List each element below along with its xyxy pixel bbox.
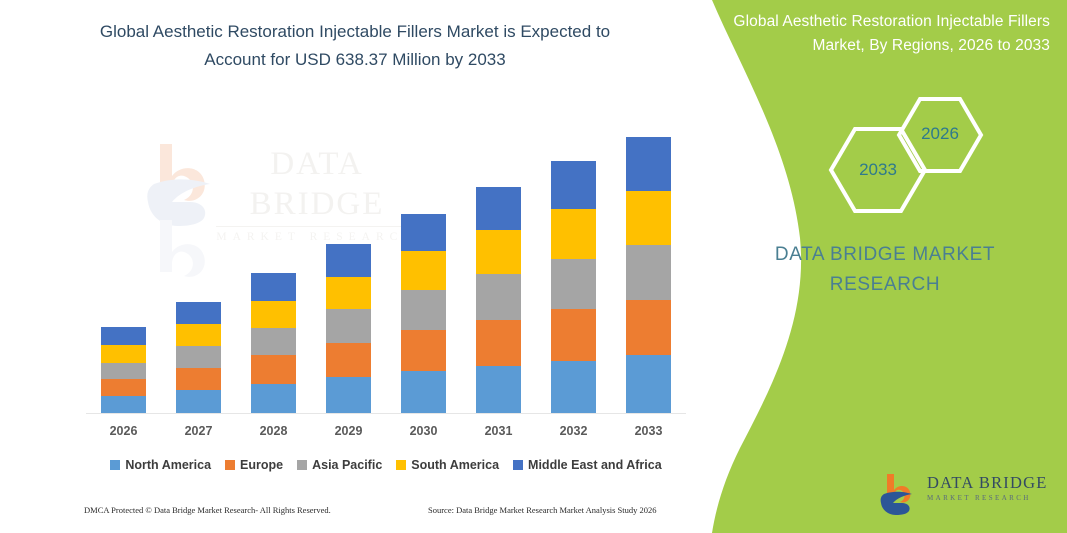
bar-segment[interactable]: [101, 327, 146, 345]
stacked-bar-plot: [86, 120, 686, 414]
bar-segment[interactable]: [326, 277, 371, 310]
panel-content: Global Aesthetic Restoration Injectable …: [700, 0, 1067, 533]
chart-area: Global Aesthetic Restoration Injectable …: [0, 0, 712, 533]
dbmr-logo-line2: MARKET RESEARCH: [927, 492, 1052, 504]
legend-item-south-america[interactable]: South America: [396, 458, 499, 472]
legend-swatch-icon: [110, 460, 120, 470]
bar-2029[interactable]: [326, 244, 371, 413]
bar-segment[interactable]: [101, 363, 146, 380]
bar-segment[interactable]: [476, 366, 521, 413]
x-tick-2028: 2028: [239, 424, 309, 438]
dbmr-logo-line1: DATA BRIDGE: [927, 474, 1052, 492]
bar-segment[interactable]: [326, 377, 371, 413]
dbmr-logo-wordmark: DATA BRIDGE MARKET RESEARCH: [927, 474, 1052, 504]
x-tick-2033: 2033: [614, 424, 684, 438]
chart-title: Global Aesthetic Restoration Injectable …: [70, 18, 640, 74]
bar-segment[interactable]: [326, 244, 371, 277]
footer-source: Source: Data Bridge Market Research Mark…: [428, 505, 657, 515]
hexagon-2026-label: 2026: [896, 124, 984, 144]
bar-segment[interactable]: [176, 346, 221, 368]
bar-2033[interactable]: [626, 137, 671, 413]
bar-2031[interactable]: [476, 187, 521, 413]
legend-swatch-icon: [396, 460, 406, 470]
x-tick-2032: 2032: [539, 424, 609, 438]
bar-segment[interactable]: [251, 384, 296, 413]
x-tick-2030: 2030: [389, 424, 459, 438]
legend-swatch-icon: [225, 460, 235, 470]
legend-label: South America: [411, 458, 499, 472]
bar-segment[interactable]: [476, 187, 521, 230]
legend-label: North America: [125, 458, 211, 472]
legend-item-north-america[interactable]: North America: [110, 458, 211, 472]
bar-segment[interactable]: [251, 301, 296, 328]
bar-segment[interactable]: [176, 324, 221, 346]
bar-segment[interactable]: [401, 330, 446, 371]
bar-segment[interactable]: [476, 274, 521, 319]
bar-segment[interactable]: [251, 328, 296, 355]
bar-segment[interactable]: [626, 245, 671, 300]
bar-2027[interactable]: [176, 302, 221, 413]
legend-item-middle-east-and-africa[interactable]: Middle East and Africa: [513, 458, 662, 472]
chart-legend: North AmericaEuropeAsia PacificSouth Ame…: [86, 455, 686, 475]
bar-segment[interactable]: [401, 290, 446, 330]
bar-segment[interactable]: [251, 273, 296, 300]
footer: DMCA Protected © Data Bridge Market Rese…: [0, 505, 700, 523]
footer-copyright: DMCA Protected © Data Bridge Market Rese…: [84, 505, 331, 515]
bar-segment[interactable]: [626, 300, 671, 356]
bar-segment[interactable]: [626, 355, 671, 413]
bar-segment[interactable]: [551, 309, 596, 360]
bar-segment[interactable]: [401, 251, 446, 290]
bar-segment[interactable]: [176, 302, 221, 324]
bar-segment[interactable]: [326, 309, 371, 343]
bar-segment[interactable]: [401, 371, 446, 413]
x-tick-2031: 2031: [464, 424, 534, 438]
legend-label: Middle East and Africa: [528, 458, 662, 472]
bar-segment[interactable]: [626, 137, 671, 192]
bar-segment[interactable]: [476, 230, 521, 274]
bar-segment[interactable]: [176, 368, 221, 390]
dbmr-logo: DATA BRIDGE MARKET RESEARCH: [875, 470, 1050, 516]
x-axis-labels: 20262027202820292030203120322033: [86, 424, 686, 442]
bar-2030[interactable]: [401, 214, 446, 413]
bar-2032[interactable]: [551, 161, 596, 413]
bar-segment[interactable]: [401, 214, 446, 252]
panel-brand-text: DATA BRIDGE MARKET RESEARCH: [720, 240, 1050, 300]
bar-segment[interactable]: [551, 209, 596, 258]
bar-segment[interactable]: [101, 345, 146, 363]
bar-segment[interactable]: [626, 191, 671, 245]
hexagon-2026: 2026: [896, 96, 984, 174]
bar-segment[interactable]: [551, 161, 596, 209]
bar-segment[interactable]: [251, 355, 296, 383]
bar-2028[interactable]: [251, 273, 296, 413]
bar-segment[interactable]: [476, 320, 521, 366]
dbmr-logo-mark-icon: [875, 470, 921, 516]
legend-label: Asia Pacific: [312, 458, 382, 472]
legend-item-asia-pacific[interactable]: Asia Pacific: [297, 458, 382, 472]
hexagon-group: 2033 2026: [810, 96, 1000, 206]
panel-title: Global Aesthetic Restoration Injectable …: [728, 10, 1050, 58]
bar-segment[interactable]: [176, 390, 221, 413]
legend-item-europe[interactable]: Europe: [225, 458, 283, 472]
bar-segment[interactable]: [326, 343, 371, 378]
x-tick-2027: 2027: [164, 424, 234, 438]
bar-2026[interactable]: [101, 327, 146, 413]
legend-swatch-icon: [513, 460, 523, 470]
bar-segment[interactable]: [101, 396, 146, 413]
bar-segment[interactable]: [101, 379, 146, 396]
bar-segment[interactable]: [551, 259, 596, 309]
x-tick-2029: 2029: [314, 424, 384, 438]
legend-swatch-icon: [297, 460, 307, 470]
infographic-root: Global Aesthetic Restoration Injectable …: [0, 0, 1067, 533]
legend-label: Europe: [240, 458, 283, 472]
x-tick-2026: 2026: [89, 424, 159, 438]
x-axis-line: [86, 413, 686, 414]
bar-segment[interactable]: [551, 361, 596, 414]
